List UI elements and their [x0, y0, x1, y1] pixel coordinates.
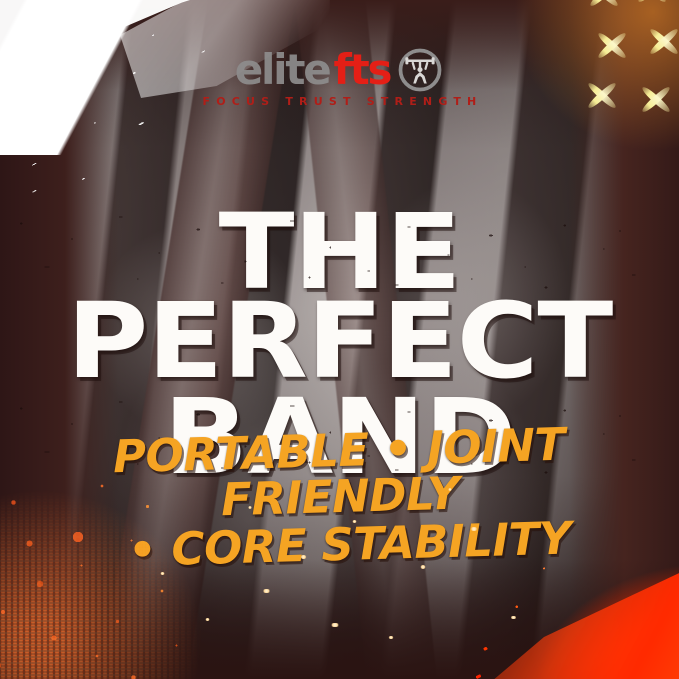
splatter-bottom-left-fine [0, 419, 240, 679]
headline-line-1: THE PERFECT [0, 208, 679, 387]
brand-logo: elite fts FOCUS TRUST STRENGTH [0, 46, 679, 108]
weightlifter-circle-icon [396, 46, 444, 94]
x-mark-icon [635, 0, 669, 6]
logo-word-fts: fts [334, 50, 391, 90]
logo-wordmark-row: elite fts [235, 46, 445, 94]
x-mark-icon [587, 0, 621, 10]
logo-word-elite: elite [235, 50, 330, 90]
poster-canvas: elite fts FOCUS TRUST STRENGTH THE [0, 0, 679, 679]
logo-tagline: FOCUS TRUST STRENGTH [197, 95, 483, 108]
headline-line-1-text: THE PERFECT [67, 191, 612, 402]
